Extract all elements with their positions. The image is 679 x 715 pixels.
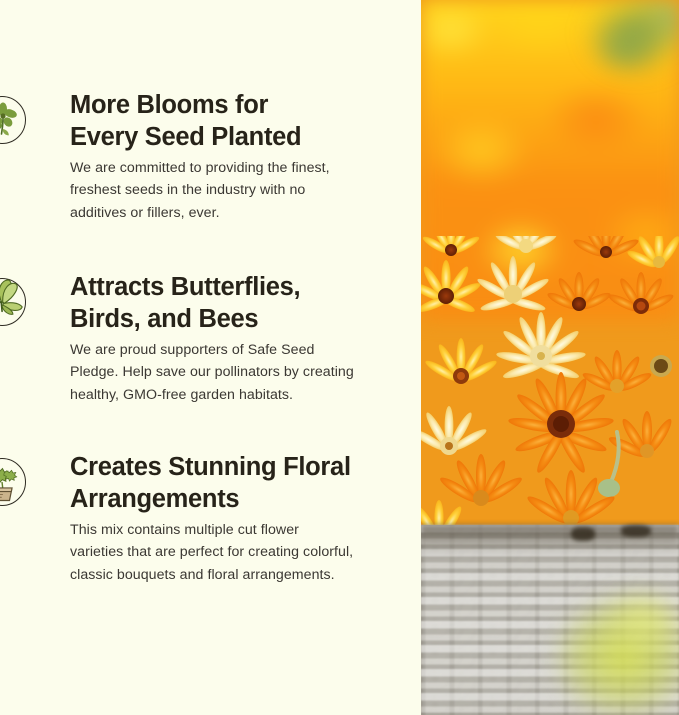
feature-heading: More Blooms for Every Seed Planted xyxy=(70,90,405,153)
feature-body: More Blooms for Every Seed Planted We ar… xyxy=(70,90,405,224)
feature-description: We are proud supporters of Safe Seed Ple… xyxy=(70,339,405,406)
feature-description: This mix contains multiple cut flower va… xyxy=(70,519,405,586)
flower-cluster xyxy=(421,236,679,566)
wicker-basket xyxy=(421,525,679,715)
feature-description: We are committed to providing the finest… xyxy=(70,157,405,224)
features-panel: More Blooms for Every Seed Planted We ar… xyxy=(0,0,421,715)
feature-item-more-blooms: More Blooms for Every Seed Planted We ar… xyxy=(0,90,421,224)
potted-plant-icon xyxy=(0,458,26,506)
feature-item-floral-arrangements: Creates Stunning Floral Arrangements Thi… xyxy=(0,452,421,586)
basket-dark-gap xyxy=(571,527,595,541)
butterfly-icon xyxy=(0,278,26,326)
feature-body: Creates Stunning Floral Arrangements Thi… xyxy=(70,452,405,586)
flower-basket-photo xyxy=(421,0,679,715)
basket-dark-gap xyxy=(621,525,651,537)
feature-item-attracts-pollinators: Attracts Butterflies, Birds, and Bees We… xyxy=(0,272,421,406)
feature-heading: Attracts Butterflies, Birds, and Bees xyxy=(70,272,405,335)
product-feature-panel: More Blooms for Every Seed Planted We ar… xyxy=(0,0,679,715)
feature-heading: Creates Stunning Floral Arrangements xyxy=(70,452,405,515)
bokeh-green-blur xyxy=(581,0,679,78)
foreground-green-blur-2 xyxy=(599,585,679,655)
feature-body: Attracts Butterflies, Birds, and Bees We… xyxy=(70,272,405,406)
flower-sprout-icon xyxy=(0,96,26,144)
